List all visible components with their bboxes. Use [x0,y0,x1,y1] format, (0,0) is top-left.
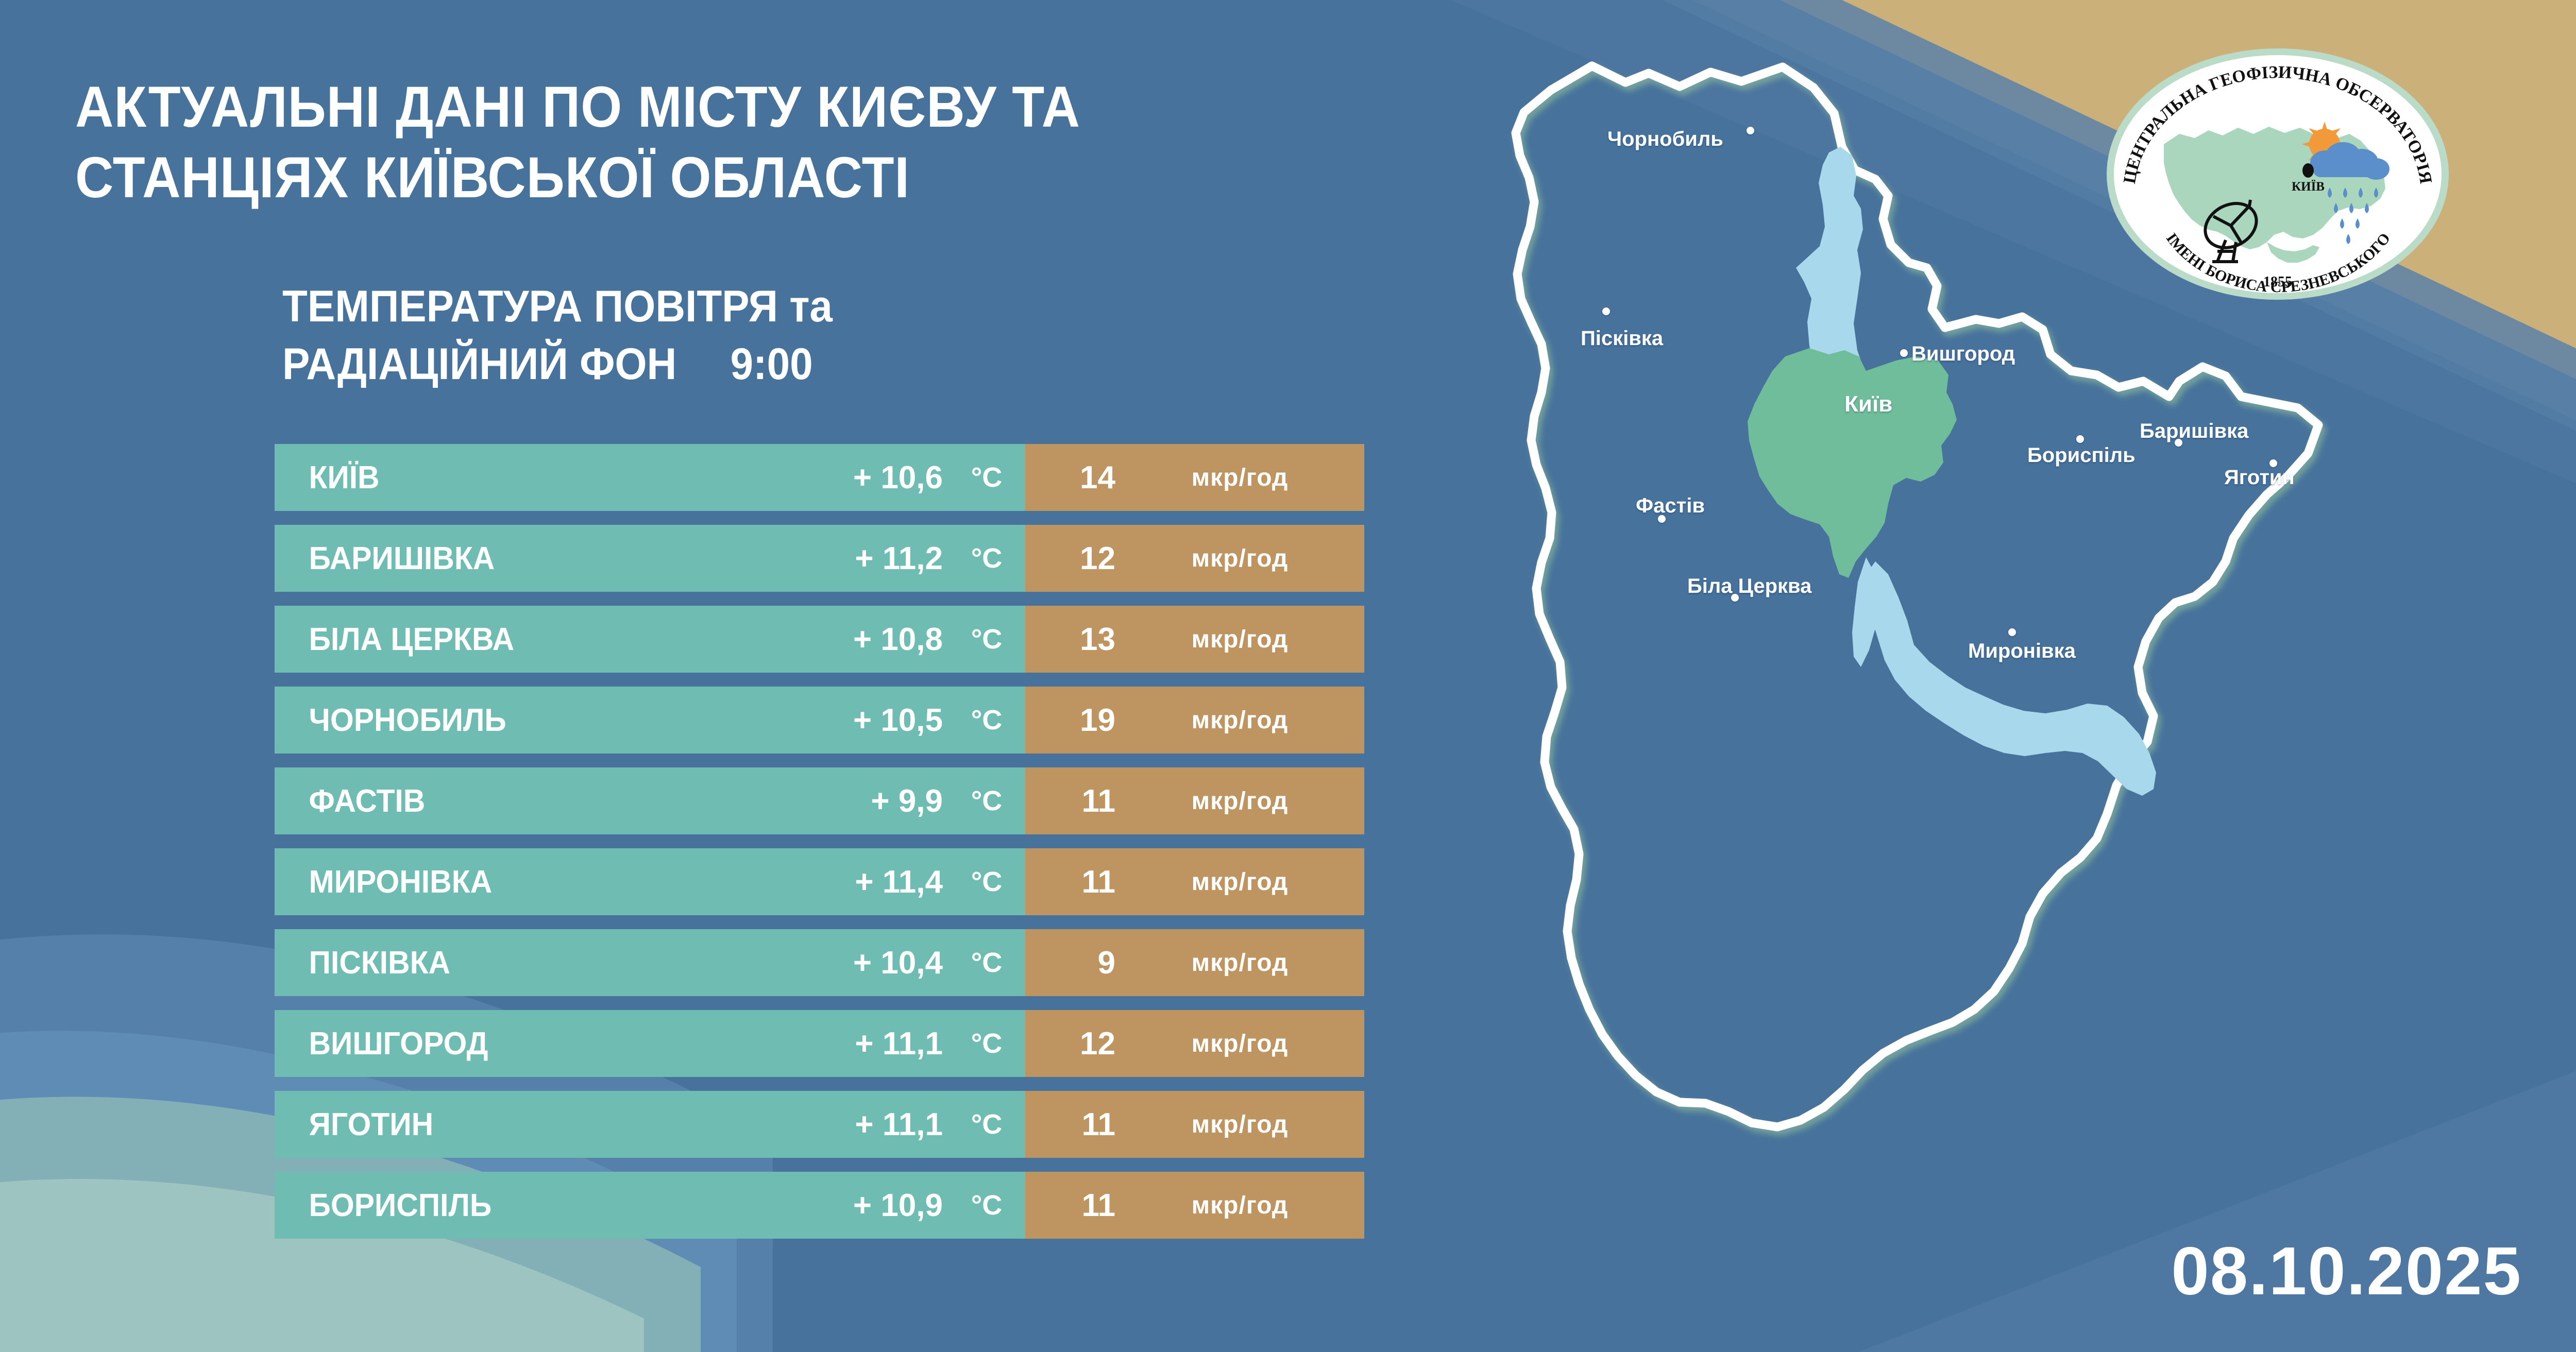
radiation-cell: 19мкр/год [1025,687,1364,754]
radiation-unit: мкр/год [1115,868,1364,896]
station-name: ВИШГОРОД [275,1025,598,1062]
title-line-2: СТАНЦІЯХ КИЇВСЬКОЇ ОБЛАСТІ [75,143,1379,213]
radiation-unit: мкр/год [1115,625,1364,654]
table-row: КИЇВ+ 10,6°C14мкр/год [275,444,1364,511]
kyiv-dot-icon [2302,163,2314,178]
infographic-canvas: АКТУАЛЬНІ ДАНІ ПО МІСТУ КИЄВУ ТА СТАНЦІЯ… [0,0,2576,1352]
temperature-cell: ЯГОТИН+ 11,1°C [275,1091,1025,1158]
table-row: МИРОНІВКА+ 11,4°C11мкр/год [275,848,1364,915]
temperature-unit: °C [948,623,1025,655]
table-row: БАРИШІВКА+ 11,2°C12мкр/год [275,525,1364,592]
temperature-cell: ЧОРНОБИЛЬ+ 10,5°C [275,687,1025,754]
map-city-label: Вишгород [1911,343,2015,366]
temperature-cell: БОРИСПІЛЬ+ 10,9°C [275,1172,1025,1239]
radiation-cell: 11мкр/год [1025,1172,1364,1239]
station-name: ФАСТІВ [275,783,598,819]
temperature-cell: ФАСТІВ+ 9,9°C [275,767,1025,834]
subtitle-line-1: ТЕМПЕРАТУРА ПОВІТРЯ та [282,278,1336,336]
temperature-cell: КИЇВ+ 10,6°C [275,444,1025,511]
temperature-unit: °C [948,1189,1025,1221]
logo-year: 1855 [2263,274,2292,290]
radiation-value: 11 [1025,1187,1115,1224]
radiation-value: 14 [1025,459,1115,496]
station-name: БАРИШІВКА [275,540,598,577]
table-row: ВИШГОРОД+ 11,1°C12мкр/год [275,1010,1364,1077]
table-row: ЧОРНОБИЛЬ+ 10,5°C19мкр/год [275,687,1364,754]
table-row: ПІСКІВКА+ 10,4°C9мкр/год [275,929,1364,996]
radiation-cell: 12мкр/год [1025,525,1364,592]
station-name: ПІСКІВКА [275,945,598,981]
map-city-dot [2008,628,2016,636]
table-row: БІЛА ЦЕРКВА+ 10,8°C13мкр/год [275,606,1364,673]
map-city-dot [2076,435,2084,443]
station-name: ЯГОТИН [275,1106,598,1143]
temperature-unit: °C [948,785,1025,817]
map-city-label: Пісківка [1581,327,1663,350]
station-name: БОРИСПІЛЬ [275,1187,598,1224]
radiation-cell: 11мкр/год [1025,767,1364,834]
temperature-value: + 10,8 [615,621,948,658]
map-city-label: Біла Церква [1687,575,1811,598]
station-name: ЧОРНОБИЛЬ [275,702,598,739]
radiation-value: 11 [1025,783,1115,819]
logo-kyiv-label: КИЇВ [2292,180,2325,194]
station-name: МИРОНІВКА [275,864,598,900]
temperature-unit: °C [948,1108,1025,1140]
radiation-unit: мкр/год [1115,1030,1364,1058]
radiation-unit: мкр/год [1115,706,1364,734]
map-city-label: Бориспіль [2027,444,2136,467]
temperature-value: + 10,6 [615,459,948,496]
map-city-label: Київ [1844,391,1892,417]
radiation-cell: 11мкр/год [1025,848,1364,915]
temperature-value: + 11,1 [615,1025,948,1062]
radiation-value: 11 [1025,1106,1115,1143]
temperature-value: + 9,9 [615,783,948,819]
measurements-table: КИЇВ+ 10,6°C14мкр/годБАРИШІВКА+ 11,2°C12… [275,444,1364,1239]
map-city-dot [1900,349,1908,357]
temperature-unit: °C [948,704,1025,736]
logo-svg: КИЇВ ЦЕНТРАЛЬНА ГЕОФІЗИЧНА ОБСЕРВАТОРІЯ … [2103,45,2452,303]
temperature-value: + 10,9 [615,1187,948,1224]
map-city-dot [1602,307,1610,315]
subtitle: ТЕМПЕРАТУРА ПОВІТРЯ та РАДІАЦІЙНИЙ ФОН9:… [282,278,1336,393]
station-name: КИЇВ [275,459,598,496]
temperature-cell: БІЛА ЦЕРКВА+ 10,8°C [275,606,1025,673]
temperature-cell: ВИШГОРОД+ 11,1°C [275,1010,1025,1077]
measurement-time: 9:00 [730,336,812,393]
temperature-value: + 11,2 [615,540,948,577]
radiation-cell: 11мкр/год [1025,1091,1364,1158]
map-city-dot [1747,127,1754,134]
radiation-unit: мкр/год [1115,787,1364,815]
radiation-unit: мкр/год [1115,949,1364,977]
radiation-value: 13 [1025,621,1115,658]
observatory-logo: КИЇВ ЦЕНТРАЛЬНА ГЕОФІЗИЧНА ОБСЕРВАТОРІЯ … [2103,45,2452,303]
temperature-unit: °C [948,1028,1025,1059]
temperature-unit: °C [948,542,1025,574]
radiation-cell: 14мкр/год [1025,444,1364,511]
radiation-value: 11 [1025,864,1115,900]
radiation-cell: 13мкр/год [1025,606,1364,673]
table-row: БОРИСПІЛЬ+ 10,9°C11мкр/год [275,1172,1364,1239]
radiation-cell: 12мкр/год [1025,1010,1364,1077]
subtitle-line-2: РАДІАЦІЙНИЙ ФОН9:00 [282,336,1336,393]
map-city-label: Яготин [2224,466,2295,489]
map-city-label: Баришівка [2140,420,2248,443]
temperature-cell: ПІСКІВКА+ 10,4°C [275,929,1025,996]
temperature-unit: °C [948,866,1025,898]
map-city-label: Чорнобиль [1607,128,1723,151]
dnipro-south [1866,561,2156,796]
kyiv-city-area [1748,348,1957,578]
radiation-value: 12 [1025,540,1115,577]
temperature-value: + 10,5 [615,702,948,739]
radiation-value: 12 [1025,1025,1115,1062]
table-row: ЯГОТИН+ 11,1°C11мкр/год [275,1091,1364,1158]
table-row: ФАСТІВ+ 9,9°C11мкр/год [275,767,1364,834]
station-name: БІЛА ЦЕРКВА [275,621,598,658]
temperature-value: + 11,1 [615,1106,948,1143]
radiation-unit: мкр/год [1115,464,1364,492]
subtitle-line-2-text: РАДІАЦІЙНИЙ ФОН [282,339,676,389]
radiation-value: 9 [1025,945,1115,981]
radiation-unit: мкр/год [1115,544,1364,573]
radiation-unit: мкр/год [1115,1110,1364,1139]
temperature-unit: °C [948,461,1025,493]
temperature-cell: БАРИШІВКА+ 11,2°C [275,525,1025,592]
temperature-unit: °C [948,947,1025,979]
page-title: АКТУАЛЬНІ ДАНІ ПО МІСТУ КИЄВУ ТА СТАНЦІЯ… [75,72,1379,213]
dnipro-channel [1852,557,1878,667]
radiation-unit: мкр/год [1115,1191,1364,1220]
map-city-label: Миронівка [1968,640,2076,663]
temperature-value: + 10,4 [615,945,948,981]
temperature-value: + 11,4 [615,864,948,900]
radiation-value: 19 [1025,702,1115,739]
temperature-cell: МИРОНІВКА+ 11,4°C [275,848,1025,915]
map-city-label: Фастів [1636,494,1705,518]
radiation-cell: 9мкр/год [1025,929,1364,996]
title-line-1: АКТУАЛЬНІ ДАНІ ПО МІСТУ КИЄВУ ТА [75,72,1379,143]
